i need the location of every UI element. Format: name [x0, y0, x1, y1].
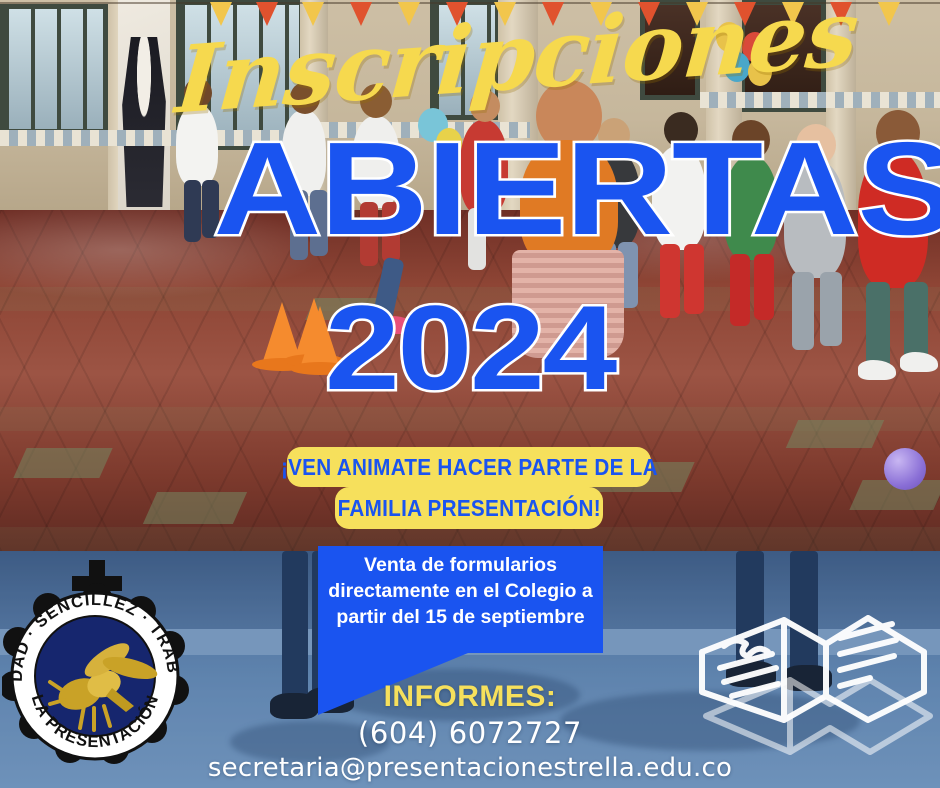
child-leg [754, 254, 774, 320]
callout-pill-line-2-text: FAMILIA PRESENTACIÓN! [337, 495, 600, 522]
child-leg [820, 272, 842, 346]
poster-figure-graphic [122, 37, 166, 207]
child-leg [904, 282, 928, 362]
contact-phone: (604) 6072727 [0, 716, 940, 750]
poster-canvas: PIEDAD · SENCILLEZ · TRABAJO LA PRESENTA… [0, 0, 940, 788]
child-leg [792, 272, 814, 350]
floor-tile [143, 492, 247, 524]
callout-pill-line-1-text: ¡VEN ANIMATE HACER PARTE DE LA [281, 454, 658, 481]
floor-tile [786, 420, 884, 448]
headline-year: 2024 [313, 288, 627, 408]
child-leg [184, 180, 201, 242]
speech-bubble-text: Venta de formularios directamente en el … [318, 552, 603, 630]
informes-label: INFORMES: [0, 680, 940, 714]
child-leg [866, 282, 890, 368]
purple-ball [884, 448, 926, 490]
floor-tile [13, 448, 112, 478]
contact-email: secretaria@presentacionestrella.edu.co [0, 753, 940, 783]
headline-abiertas: ABIERTAS [214, 126, 779, 253]
child-leg [730, 254, 750, 326]
callout-pill-line-2: FAMILIA PRESENTACIÓN! [335, 487, 603, 529]
callout-pill-line-1: ¡VEN ANIMATE HACER PARTE DE LA [287, 447, 651, 487]
flag-icon [878, 2, 900, 26]
